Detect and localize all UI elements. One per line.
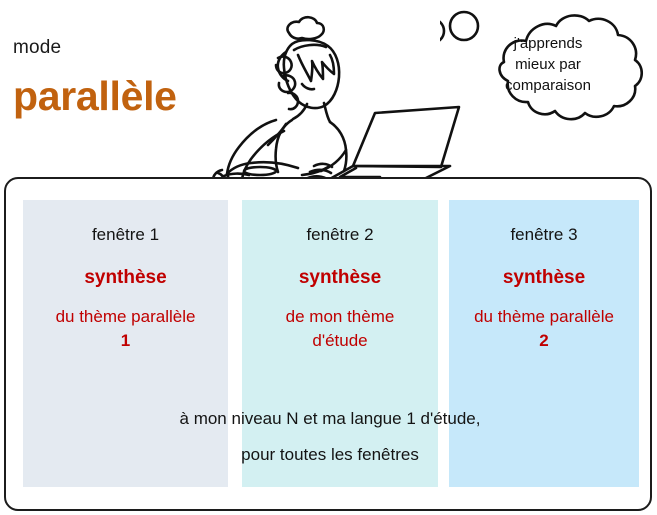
thought-bubble-line-2: mieux par [468,54,628,75]
panel-caption-line-1: à mon niveau N et ma langue 1 d'étude, [6,401,654,437]
person-studying-at-laptop-illustration [206,0,466,180]
window-label-2: fenêtre 2 [242,225,438,245]
synthesis-subtext-3-line-2: 2 [449,329,639,353]
window-label-1: fenêtre 1 [23,225,228,245]
synthesis-subtext-2: de mon thème d'étude [242,305,438,353]
synthesis-subtext-1-line-2: 1 [23,329,228,353]
header-area: mode parallèle [0,0,657,178]
mode-title: parallèle [13,73,177,120]
synthesis-subtext-1-line-1: du thème parallèle [23,305,228,329]
synthesis-heading-1: synthèse [23,267,228,289]
synthesis-subtext-1: du thème parallèle 1 [23,305,228,353]
panel-caption: à mon niveau N et ma langue 1 d'étude, p… [6,401,654,473]
synthesis-heading-2: synthèse [242,267,438,289]
mode-label: mode [13,37,61,59]
window-column-2-content: fenêtre 2 synthèse de mon thème d'étude [242,200,438,353]
synthesis-subtext-2-line-2: d'étude [242,329,438,353]
thought-bubble-text: j'apprends mieux par comparaison [468,33,628,96]
synthesis-subtext-3: du thème parallèle 2 [449,305,639,353]
window-label-3: fenêtre 3 [449,225,639,245]
window-column-1-content: fenêtre 1 synthèse du thème parallèle 1 [23,200,228,353]
synthesis-subtext-2-line-1: de mon thème [242,305,438,329]
thought-bubble-line-1: j'apprends [468,33,628,54]
parallel-mode-panel: fenêtre 1 synthèse du thème parallèle 1 … [4,177,652,511]
thought-bubble-line-3: comparaison [468,75,628,96]
window-column-3-content: fenêtre 3 synthèse du thème parallèle 2 [449,200,639,353]
panel-caption-line-2: pour toutes les fenêtres [6,437,654,473]
synthesis-subtext-3-line-1: du thème parallèle [449,305,639,329]
synthesis-heading-3: synthèse [449,267,639,289]
